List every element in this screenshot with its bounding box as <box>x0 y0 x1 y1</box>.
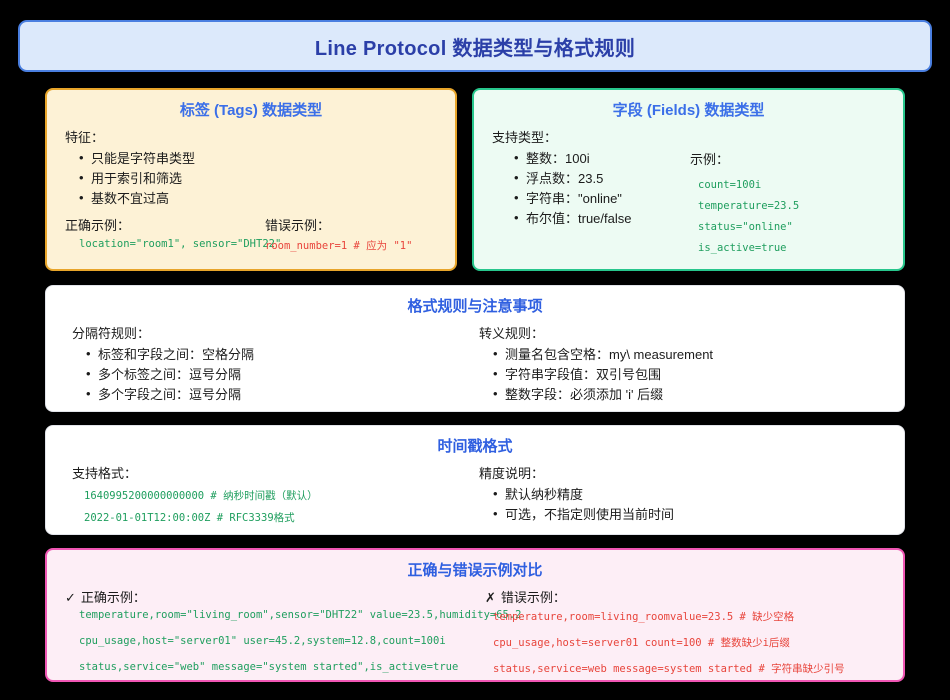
list-item: 标签和字段之间：空格分隔 <box>86 345 472 365</box>
fields-example-code: is_active=true <box>698 238 799 259</box>
fields-panel-body: 支持类型： 整数：100i 浮点数：23.5 字符串："online" 布尔值：… <box>474 127 903 146</box>
fields-example-column: 示例： count=100i temperature=23.5 status="… <box>690 149 799 259</box>
tags-bullet-list: 只能是字符串类型 用于索引和筛选 基数不宜过高 <box>79 149 437 209</box>
comparison-panel-title: 正确与错误示例对比 <box>47 559 903 580</box>
slide-header: Line Protocol 数据类型与格式规则 <box>18 20 932 72</box>
separator-rules-list: 标签和字段之间：空格分隔 多个标签之间：逗号分隔 多个字段之间：逗号分隔 <box>86 345 472 405</box>
format-rules-title: 格式规则与注意事项 <box>46 295 904 316</box>
fields-bullet-list: 整数：100i 浮点数：23.5 字符串："online" 布尔值：true/f… <box>514 149 631 229</box>
list-item: 测量名包含空格：my\ measurement <box>493 345 899 365</box>
tags-wrong-label: 错误示例： <box>265 215 330 234</box>
fields-example-code: count=100i <box>698 175 799 196</box>
fields-type-column: 整数：100i 浮点数：23.5 字符串："online" 布尔值：true/f… <box>500 149 631 229</box>
format-rules-body: 分隔符规则： 标签和字段之间：空格分隔 多个标签之间：逗号分隔 多个字段之间：逗… <box>46 323 904 415</box>
list-item: 字符串字段值：双引号包围 <box>493 365 899 385</box>
timestamp-code: 1640995200000000000 # 纳秒时间戳（默认） <box>84 485 472 507</box>
correct-example-code: cpu_usage,host="server01" user=45.2,syst… <box>79 635 446 647</box>
comparison-panel-body: ✓正确示例： ✗错误示例： temperature,room="living_r… <box>47 587 903 687</box>
timestamp-format-column: 支持格式： 1640995200000000000 # 纳秒时间戳（默认） 20… <box>72 463 472 529</box>
list-item: 布尔值：true/false <box>514 209 631 229</box>
timestamp-code-list: 1640995200000000000 # 纳秒时间戳（默认） 2022-01-… <box>72 485 472 529</box>
list-item: 可选，不指定则使用当前时间 <box>493 505 899 525</box>
list-item: 整数：100i <box>514 149 631 169</box>
comparison-correct-label: 正确示例： <box>81 590 146 605</box>
comparison-correct-header: ✓正确示例： <box>65 587 146 606</box>
tags-correct-label: 正确示例： <box>65 215 130 234</box>
tags-correct-code: location="room1", sensor="DHT22" <box>79 238 281 250</box>
list-item: 只能是字符串类型 <box>79 149 437 169</box>
tags-example-labels: 正确示例： 错误示例： <box>65 215 437 233</box>
separator-rules-column: 分隔符规则： 标签和字段之间：空格分隔 多个标签之间：逗号分隔 多个字段之间：逗… <box>72 323 472 405</box>
tags-wrong-code: room_number=1 # 应为 "1" <box>265 238 412 253</box>
comparison-row: status,service="web" message="system sta… <box>65 661 885 687</box>
tags-section-label: 特征： <box>65 127 437 146</box>
timestamp-panel-body: 支持格式： 1640995200000000000 # 纳秒时间戳（默认） 20… <box>46 463 904 535</box>
escape-rules-list: 测量名包含空格：my\ measurement 字符串字段值：双引号包围 整数字… <box>493 345 899 405</box>
wrong-example-code: status,service=web message=system starte… <box>493 661 845 676</box>
fields-example-label: 示例： <box>690 149 799 168</box>
comparison-row: cpu_usage,host="server01" user=45.2,syst… <box>65 635 885 661</box>
correct-example-code: temperature,room="living_room",sensor="D… <box>79 609 522 621</box>
correct-example-code: status,service="web" message="system sta… <box>79 661 458 673</box>
list-item: 多个标签之间：逗号分隔 <box>86 365 472 385</box>
format-rules-panel: 格式规则与注意事项 分隔符规则： 标签和字段之间：空格分隔 多个标签之间：逗号分… <box>45 285 905 412</box>
check-icon: ✓ <box>65 590 76 606</box>
escape-rules-label: 转义规则： <box>479 323 899 342</box>
precision-column: 精度说明： 默认纳秒精度 可选，不指定则使用当前时间 <box>479 463 899 525</box>
list-item: 整数字段：必须添加 'i' 后缀 <box>493 385 899 405</box>
timestamp-panel-title: 时间戳格式 <box>46 435 904 456</box>
fields-panel: 字段 (Fields) 数据类型 支持类型： 整数：100i 浮点数：23.5 … <box>472 88 905 271</box>
precision-list: 默认纳秒精度 可选，不指定则使用当前时间 <box>493 485 899 525</box>
list-item: 基数不宜过高 <box>79 189 437 209</box>
list-item: 用于索引和筛选 <box>79 169 437 189</box>
fields-example-code: temperature=23.5 <box>698 196 799 217</box>
tags-panel-body: 特征： 只能是字符串类型 用于索引和筛选 基数不宜过高 正确示例： 错误示例： … <box>47 127 455 256</box>
precision-label: 精度说明： <box>479 463 899 482</box>
fields-panel-title: 字段 (Fields) 数据类型 <box>474 99 903 120</box>
format-two-column: 分隔符规则： 标签和字段之间：空格分隔 多个标签之间：逗号分隔 多个字段之间：逗… <box>64 323 886 415</box>
comparison-headers: ✓正确示例： ✗错误示例： <box>65 587 885 607</box>
list-item: 默认纳秒精度 <box>493 485 899 505</box>
timestamp-format-label: 支持格式： <box>72 463 472 482</box>
list-item: 字符串："online" <box>514 189 631 209</box>
wrong-example-code: cpu_usage,host=server01 count=100 # 整数缺少… <box>493 635 790 650</box>
page-title: Line Protocol 数据类型与格式规则 <box>315 32 635 61</box>
comparison-wrong-header: ✗错误示例： <box>485 587 566 606</box>
list-item: 多个字段之间：逗号分隔 <box>86 385 472 405</box>
tags-panel-title: 标签 (Tags) 数据类型 <box>47 99 455 120</box>
fields-example-code: status="online" <box>698 217 799 238</box>
timestamp-panel: 时间戳格式 支持格式： 1640995200000000000 # 纳秒时间戳（… <box>45 425 905 535</box>
comparison-row: temperature,room="living_room",sensor="D… <box>65 609 885 635</box>
fields-section-label: 支持类型： <box>492 127 885 146</box>
timestamp-two-column: 支持格式： 1640995200000000000 # 纳秒时间戳（默认） 20… <box>64 463 886 535</box>
tags-example-codes: location="room1", sensor="DHT22" room_nu… <box>65 238 437 256</box>
slide-canvas: Line Protocol 数据类型与格式规则 标签 (Tags) 数据类型 特… <box>0 0 950 700</box>
cross-icon: ✗ <box>485 590 496 606</box>
escape-rules-column: 转义规则： 测量名包含空格：my\ measurement 字符串字段值：双引号… <box>479 323 899 405</box>
tags-panel: 标签 (Tags) 数据类型 特征： 只能是字符串类型 用于索引和筛选 基数不宜… <box>45 88 457 271</box>
separator-rules-label: 分隔符规则： <box>72 323 472 342</box>
comparison-wrong-label: 错误示例： <box>501 590 566 605</box>
wrong-example-code: temperature,room=living_roomvalue=23.5 #… <box>493 609 794 624</box>
timestamp-code: 2022-01-01T12:00:00Z # RFC3339格式 <box>84 507 472 529</box>
comparison-panel: 正确与错误示例对比 ✓正确示例： ✗错误示例： temperature,room… <box>45 548 905 682</box>
list-item: 浮点数：23.5 <box>514 169 631 189</box>
